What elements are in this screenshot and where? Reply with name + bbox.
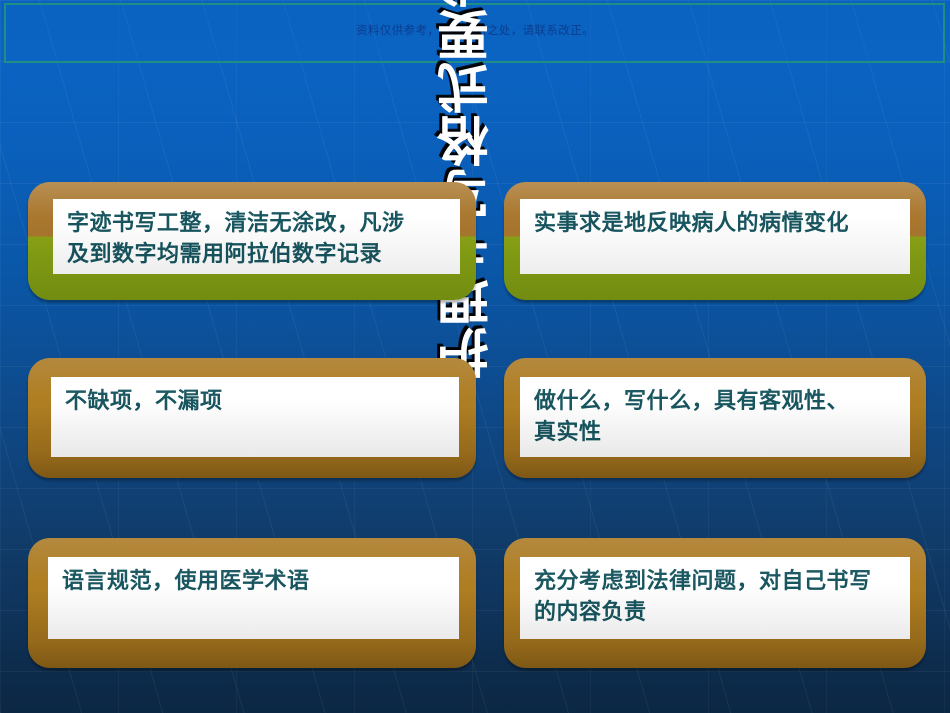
content-box-6-panel: 充分考虑到法律问题，对自己书写 的内容负责	[520, 557, 910, 639]
watermark-text: 资料仅供参考，如有不当之处，请联系改正。	[0, 22, 950, 38]
content-box-4-panel: 做什么，写什么，具有客观性、 真实性	[520, 377, 910, 457]
content-box-6[interactable]: 充分考虑到法律问题，对自己书写 的内容负责	[504, 538, 926, 668]
content-box-4-text: 做什么，写什么，具有客观性、 真实性	[534, 386, 902, 448]
content-box-5-panel: 语言规范，使用医学术语	[48, 557, 459, 639]
content-box-2-text: 实事求是地反映病人的病情变化	[534, 208, 902, 239]
slide-canvas: 资料仅供参考，如有不当之处，请联系改正。 护理书写格式要求 字迹书写工整，清洁无…	[0, 0, 950, 713]
content-box-2[interactable]: 实事求是地反映病人的病情变化	[504, 182, 926, 300]
content-box-4[interactable]: 做什么，写什么，具有客观性、 真实性	[504, 358, 926, 478]
content-box-3-text: 不缺项，不漏项	[65, 386, 451, 417]
content-box-1[interactable]: 字迹书写工整，清洁无涂改，凡涉 及到数字均需用阿拉伯数字记录	[28, 182, 476, 300]
content-box-1-text: 字迹书写工整，清洁无涂改，凡涉 及到数字均需用阿拉伯数字记录	[67, 208, 452, 270]
content-box-3-panel: 不缺项，不漏项	[51, 377, 459, 457]
content-box-2-panel: 实事求是地反映病人的病情变化	[520, 199, 910, 274]
content-box-5-text: 语言规范，使用医学术语	[62, 566, 451, 597]
content-box-6-text: 充分考虑到法律问题，对自己书写 的内容负责	[534, 566, 902, 628]
content-box-5[interactable]: 语言规范，使用医学术语	[28, 538, 476, 668]
content-box-1-panel: 字迹书写工整，清洁无涂改，凡涉 及到数字均需用阿拉伯数字记录	[53, 199, 460, 274]
content-box-3[interactable]: 不缺项，不漏项	[28, 358, 476, 478]
